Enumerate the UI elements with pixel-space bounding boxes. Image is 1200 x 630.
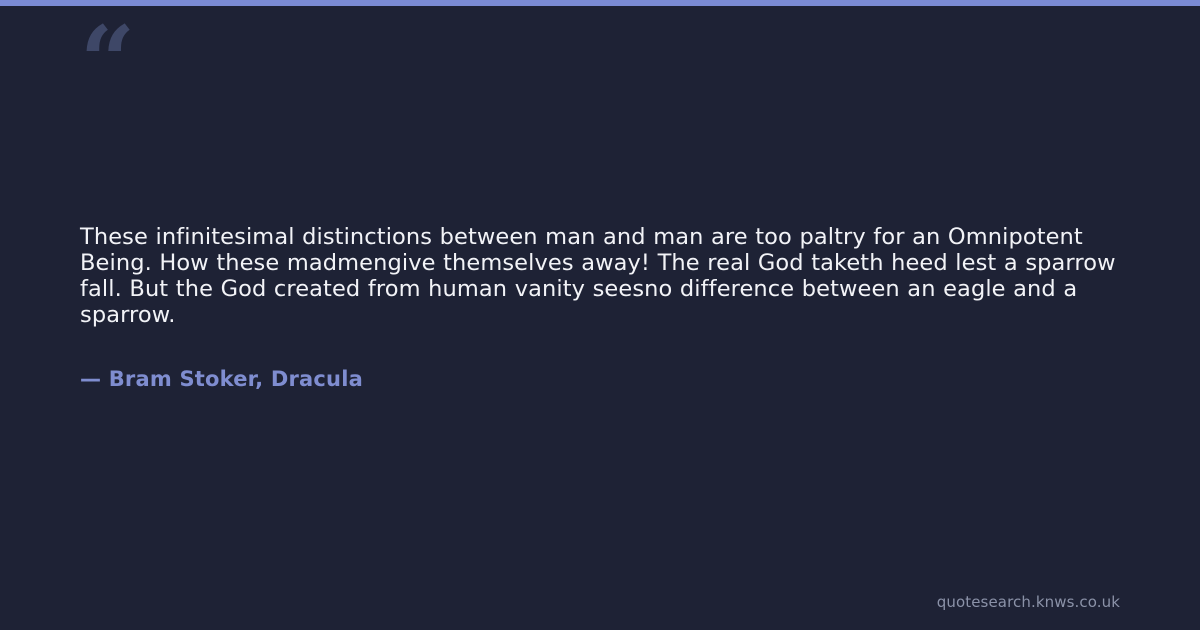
quote-text: These infinitesimal distinctions between… [80, 224, 1124, 328]
quotation-mark-icon: “ [80, 14, 133, 110]
quote-content: These infinitesimal distinctions between… [80, 224, 1124, 392]
footer-site-url: quotesearch.knws.co.uk [937, 592, 1120, 612]
quote-attribution: — Bram Stoker, Dracula [80, 328, 1124, 392]
quote-card: “ These infinitesimal distinctions betwe… [0, 0, 1200, 630]
top-accent-bar [0, 0, 1200, 6]
